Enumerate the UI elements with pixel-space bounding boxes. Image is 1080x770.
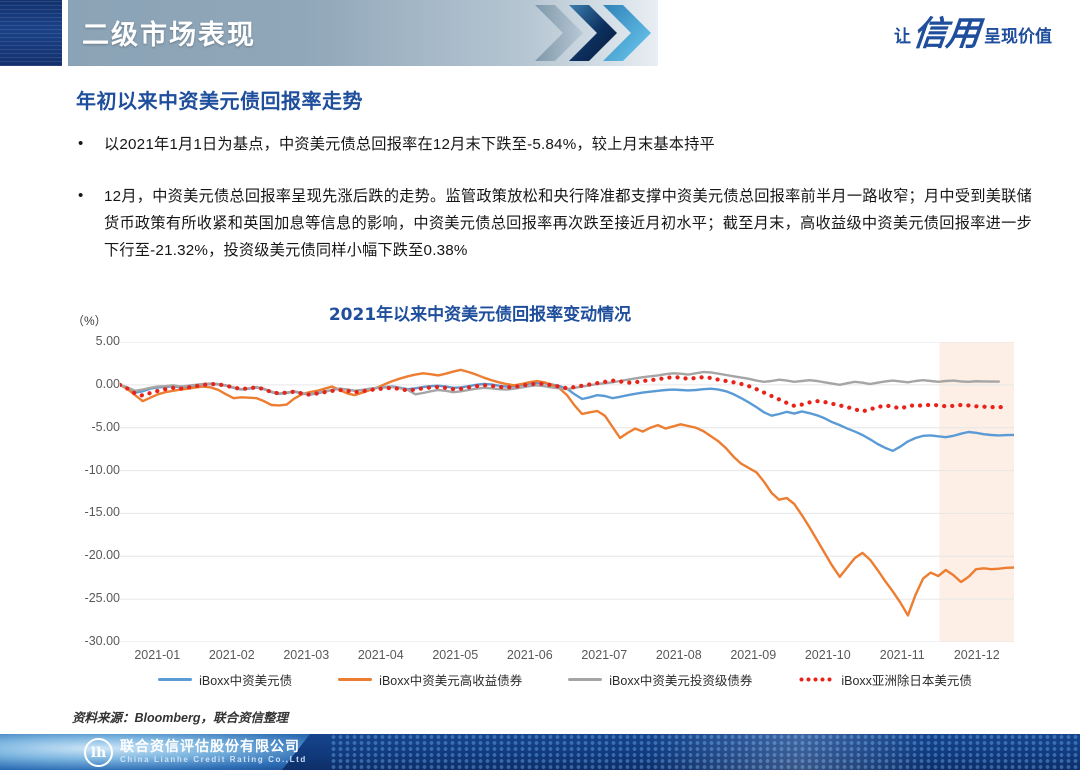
legend-swatch bbox=[338, 678, 372, 681]
y-axis-tick: -10.00 bbox=[60, 463, 120, 477]
source-note: 资料来源：Bloomberg，联合资信整理 bbox=[72, 707, 288, 726]
chart-plot-area bbox=[120, 342, 1014, 642]
logo-main-text: 信用 bbox=[911, 17, 981, 51]
y-axis-tick: -30.00 bbox=[60, 634, 120, 648]
x-axis-tick: 2021-08 bbox=[639, 648, 719, 662]
x-axis-tick: 2021-04 bbox=[341, 648, 421, 662]
footer-company-cn: 联合资信评估股份有限公司 bbox=[120, 740, 307, 755]
x-axis-tick: 2021-10 bbox=[788, 648, 868, 662]
legend-label: iBoxx中资美元高收益债券 bbox=[379, 670, 522, 689]
page-title: 二级市场表现 bbox=[82, 13, 256, 52]
legend-item[interactable]: iBoxx中资美元高收益债券 bbox=[338, 670, 522, 689]
chart-container: 2021年以来中资美元债回报率变动情况 （%） 5.000.00-5.00-10… bbox=[60, 298, 1070, 698]
brand-logo: 让 信用 呈现价值 bbox=[894, 12, 1052, 56]
legend-swatch-dotted bbox=[798, 677, 834, 682]
footer-company-en: China Lianhe Credit Rating Co.,Ltd bbox=[120, 755, 307, 765]
bullet-text: 12月，中资美元债总回报率呈现先涨后跌的走势。监管政策放松和央行降准都支撑中资美… bbox=[104, 183, 1032, 264]
y-axis-tick: -25.00 bbox=[60, 591, 120, 605]
bullet-marker: • bbox=[72, 131, 104, 158]
y-axis-tick: 5.00 bbox=[60, 334, 120, 348]
footer-logo: lh 联合资信评估股份有限公司 China Lianhe Credit Rati… bbox=[84, 738, 307, 767]
legend-swatch bbox=[158, 678, 192, 681]
bullet-marker: • bbox=[72, 183, 104, 264]
y-axis-tick: -15.00 bbox=[60, 505, 120, 519]
x-axis-tick: 2021-01 bbox=[117, 648, 197, 662]
chevron-right-icon bbox=[601, 3, 653, 63]
legend-swatch bbox=[568, 678, 602, 681]
legend-label: iBoxx中资美元投资级债券 bbox=[609, 670, 752, 689]
section-title: 年初以来中资美元债回报率走势 bbox=[76, 85, 363, 114]
legend-item[interactable]: iBoxx中资美元投资级债券 bbox=[568, 670, 752, 689]
page-header: 二级市场表现 让 信用 呈现价值 bbox=[0, 0, 1080, 66]
header-accent-block bbox=[0, 0, 62, 66]
bullet-text: 以2021年1月1日为基点，中资美元债总回报率在12月末下跌至-5.84%，较上… bbox=[104, 131, 715, 158]
x-axis-tick: 2021-05 bbox=[415, 648, 495, 662]
legend-item[interactable]: iBoxx亚洲除日本美元债 bbox=[798, 670, 972, 689]
y-axis-tick: -20.00 bbox=[60, 548, 120, 562]
logo-suffix: 呈现价值 bbox=[984, 22, 1052, 47]
bullet-item: • 以2021年1月1日为基点，中资美元债总回报率在12月末下跌至-5.84%，… bbox=[72, 131, 1012, 158]
page-footer: lh 联合资信评估股份有限公司 China Lianhe Credit Rati… bbox=[0, 734, 1080, 770]
x-axis-tick: 2021-12 bbox=[937, 648, 1017, 662]
chart-unit-label: （%） bbox=[72, 312, 107, 329]
company-mark-icon: lh bbox=[84, 738, 113, 767]
legend-label: iBoxx中资美元债 bbox=[199, 670, 292, 689]
x-axis-tick: 2021-09 bbox=[713, 648, 793, 662]
chart-title: 2021年以来中资美元债回报率变动情况 bbox=[60, 300, 900, 325]
x-axis-tick: 2021-02 bbox=[192, 648, 272, 662]
x-axis-tick: 2021-07 bbox=[564, 648, 644, 662]
y-axis-tick: 0.00 bbox=[60, 377, 120, 391]
y-axis-tick: -5.00 bbox=[60, 420, 120, 434]
bullet-item: • 12月，中资美元债总回报率呈现先涨后跌的走势。监管政策放松和央行降准都支撑中… bbox=[72, 183, 1032, 264]
legend-item[interactable]: iBoxx中资美元债 bbox=[158, 670, 292, 689]
x-axis-tick: 2021-11 bbox=[862, 648, 942, 662]
x-axis-tick: 2021-03 bbox=[266, 648, 346, 662]
logo-prefix: 让 bbox=[894, 22, 911, 47]
legend-label: iBoxx亚洲除日本美元债 bbox=[841, 670, 972, 689]
x-axis-tick: 2021-06 bbox=[490, 648, 570, 662]
chart-legend: iBoxx中资美元债iBoxx中资美元高收益债券iBoxx中资美元投资级债券iB… bbox=[60, 670, 1070, 689]
